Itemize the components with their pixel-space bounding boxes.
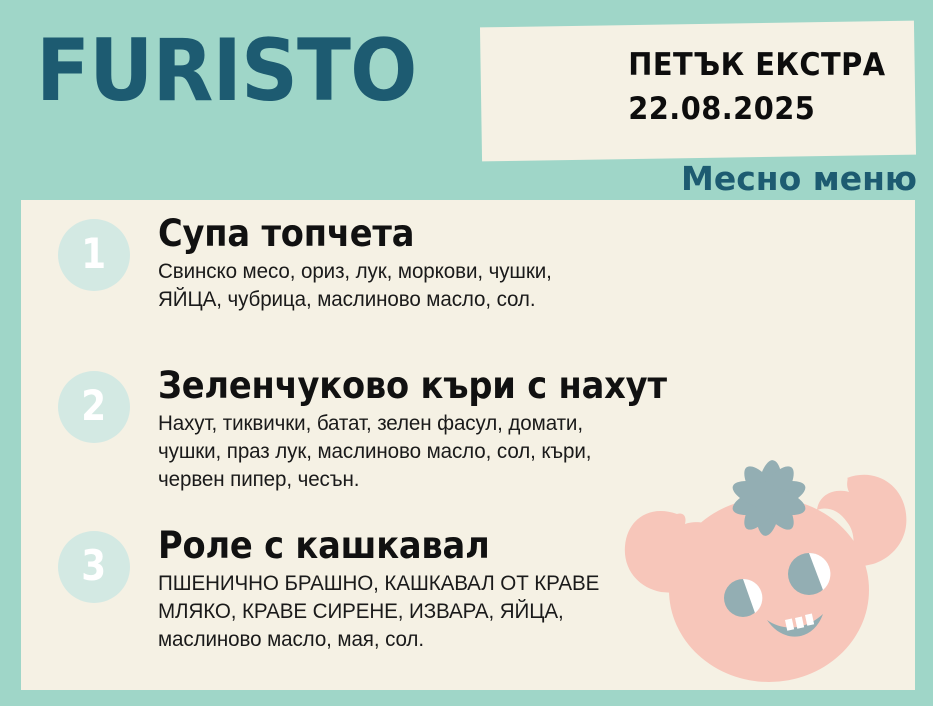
menu-item-body: Роле с кашкавал ПШЕНИЧНО БРАШНО, КАШКАВА… bbox=[158, 524, 758, 654]
menu-poster: FURISTO ПЕТЪК ЕКСТРА 22.08.2025 Месно ме… bbox=[0, 0, 933, 706]
date-card: ПЕТЪК ЕКСТРА 22.08.2025 bbox=[480, 21, 916, 162]
menu-item-description-line: МЛЯКО, КРАВЕ СИРЕНЕ, ИЗВАРА, ЯЙЦА, bbox=[158, 598, 746, 626]
menu-item-description-line: Свинско месо, ориз, лук, моркови, чушки, bbox=[158, 258, 746, 286]
menu-item-badge: 1 bbox=[58, 219, 130, 291]
menu-item-description-line: ЯЙЦА, чубрица, маслиново масло, сол. bbox=[158, 286, 746, 314]
menu-item-badge: 2 bbox=[58, 371, 130, 443]
menu-item-description: Нахут, тиквички, батат, зелен фасул, дом… bbox=[158, 410, 758, 494]
date-card-text: ПЕТЪК ЕКСТРА 22.08.2025 bbox=[628, 43, 904, 131]
menu-kind-label: Месно меню bbox=[681, 160, 917, 198]
menu-panel: 1 Супа топчета Свинско месо, ориз, лук, … bbox=[21, 200, 915, 690]
menu-item-title: Зеленчуково къри с нахут bbox=[158, 364, 704, 408]
date-card-title: ПЕТЪК ЕКСТРА bbox=[628, 43, 885, 87]
menu-item-body: Супа топчета Свинско месо, ориз, лук, мо… bbox=[158, 212, 758, 314]
menu-item-number: 1 bbox=[82, 233, 107, 275]
menu-item-body: Зеленчуково къри с нахут Нахут, тиквички… bbox=[158, 364, 758, 494]
menu-item-title: Роле с кашкавал bbox=[158, 524, 704, 568]
date-card-date: 22.08.2025 bbox=[628, 87, 885, 131]
menu-item-description-line: Нахут, тиквички, батат, зелен фасул, дом… bbox=[158, 410, 746, 438]
menu-item-description: ПШЕНИЧНО БРАШНО, КАШКАВАЛ ОТ КРАВЕ МЛЯКО… bbox=[158, 570, 758, 654]
brand-logo: FURISTO bbox=[36, 28, 416, 114]
menu-item-title: Супа топчета bbox=[158, 212, 704, 256]
menu-item-number: 2 bbox=[82, 385, 107, 427]
menu-item-description-line: ПШЕНИЧНО БРАШНО, КАШКАВАЛ ОТ КРАВЕ bbox=[158, 570, 746, 598]
menu-item-number: 3 bbox=[82, 545, 107, 587]
menu-item-description-line: чушки, праз лук, маслиново масло, сол, к… bbox=[158, 438, 746, 466]
menu-item-badge: 3 bbox=[58, 531, 130, 603]
menu-item-description: Свинско месо, ориз, лук, моркови, чушки,… bbox=[158, 258, 758, 314]
menu-item-description-line: маслиново масло, мая, сол. bbox=[158, 626, 746, 654]
menu-item-description-line: червен пипер, чесън. bbox=[158, 466, 746, 494]
